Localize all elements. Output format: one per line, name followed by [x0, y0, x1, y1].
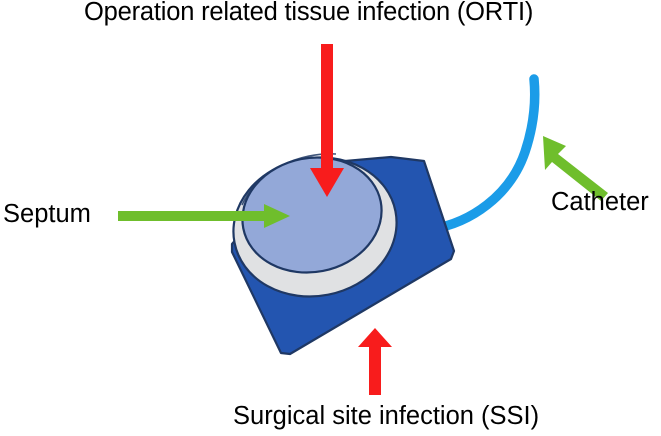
label-ssi: Surgical site infection (SSI): [233, 404, 539, 430]
septum-arrow-icon: [118, 204, 290, 228]
diagram-canvas: Operation related tissue infection (ORTI…: [0, 0, 661, 436]
label-catheter: Catheter: [551, 190, 649, 216]
catheter-tube: [432, 79, 535, 229]
label-orti: Operation related tissue infection (ORTI…: [84, 0, 533, 26]
port-diagram-figure: [0, 0, 661, 436]
orti-arrow-icon: [310, 44, 344, 197]
ssi-arrow-icon: [358, 328, 392, 395]
label-septum: Septum: [3, 202, 91, 228]
